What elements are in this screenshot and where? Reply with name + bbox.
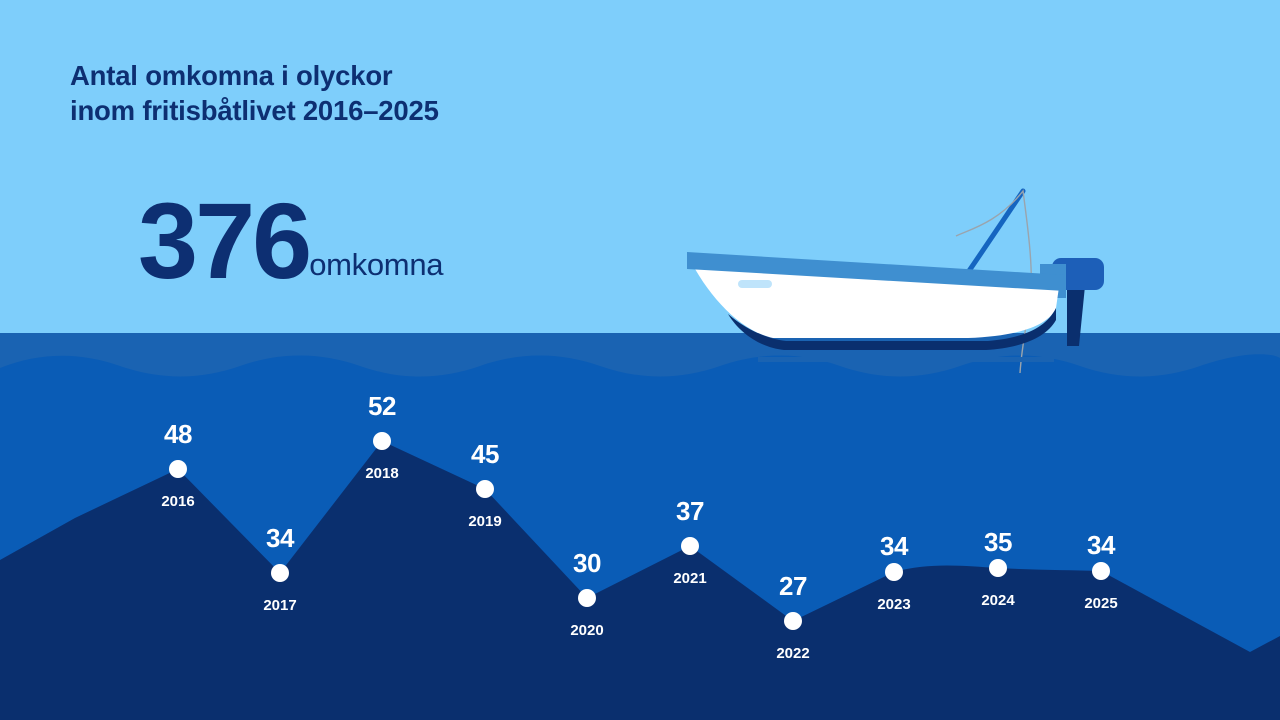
data-point-2020[interactable] <box>578 589 596 607</box>
data-point-2019[interactable] <box>476 480 494 498</box>
data-point-2016[interactable] <box>169 460 187 478</box>
data-point-2025[interactable] <box>1092 562 1110 580</box>
year-label-2023: 2023 <box>877 596 910 613</box>
data-point-2023[interactable] <box>885 563 903 581</box>
year-label-2017: 2017 <box>263 597 296 614</box>
value-label-2016: 48 <box>164 419 192 449</box>
infographic-canvas: Antal omkomna i olyckor inom fritisbåtli… <box>0 0 1280 720</box>
year-label-2016: 2016 <box>161 493 194 510</box>
year-label-2025: 2025 <box>1084 595 1117 612</box>
chart-point-group-2021[interactable]: 37 2021 <box>673 496 706 587</box>
chart-area-fill <box>0 441 1280 720</box>
year-label-2022: 2022 <box>776 645 809 662</box>
value-label-2017: 34 <box>266 523 295 553</box>
line-chart: 48 2016 34 2017 52 2018 45 2019 30 2020 … <box>0 0 1280 720</box>
value-label-2021: 37 <box>676 496 704 526</box>
chart-point-group-2016[interactable]: 48 2016 <box>161 419 194 510</box>
data-point-2021[interactable] <box>681 537 699 555</box>
year-label-2019: 2019 <box>468 513 501 530</box>
value-label-2019: 45 <box>471 439 499 469</box>
value-label-2020: 30 <box>573 548 601 578</box>
year-label-2020: 2020 <box>570 622 603 639</box>
value-label-2024: 35 <box>984 527 1012 557</box>
data-point-2017[interactable] <box>271 564 289 582</box>
data-point-2024[interactable] <box>989 559 1007 577</box>
data-point-2018[interactable] <box>373 432 391 450</box>
year-label-2024: 2024 <box>981 592 1015 609</box>
value-label-2018: 52 <box>368 391 396 421</box>
year-label-2018: 2018 <box>365 465 398 482</box>
year-label-2021: 2021 <box>673 570 706 587</box>
value-label-2025: 34 <box>1087 530 1116 560</box>
value-label-2023: 34 <box>880 531 909 561</box>
value-label-2022: 27 <box>779 571 807 601</box>
chart-point-group-2018[interactable]: 52 2018 <box>365 391 398 482</box>
data-point-2022[interactable] <box>784 612 802 630</box>
